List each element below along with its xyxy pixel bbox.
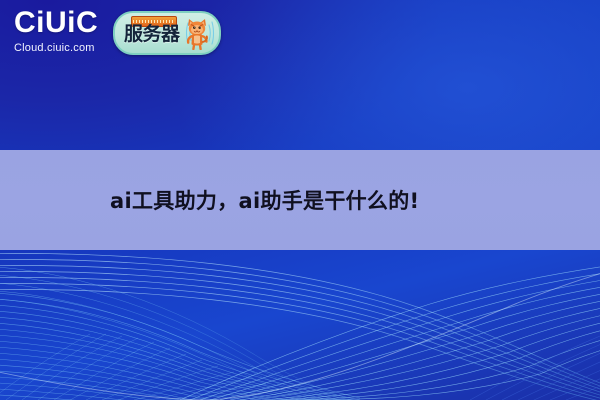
title-band: ai工具助力，ai助手是干什么的! xyxy=(0,150,600,250)
site-logo[interactable]: CiUiC Cloud.ciuic.com xyxy=(14,8,116,54)
logo-domain: Cloud.ciuic.com xyxy=(14,42,116,54)
server-badge[interactable]: 服务器 xyxy=(113,11,221,55)
logo-wordmark: CiUiC xyxy=(14,8,116,38)
wave-decoration xyxy=(0,248,600,400)
banner-image: CiUiC Cloud.ciuic.com 服务器 xyxy=(0,0,600,400)
banner-title: ai工具助力，ai助手是干什么的! xyxy=(110,185,419,215)
badge-label: 服务器 xyxy=(124,25,180,44)
blue-wireframe-wave-mesh-svg xyxy=(0,248,600,400)
orange-cat-mascot-icon xyxy=(183,17,211,50)
